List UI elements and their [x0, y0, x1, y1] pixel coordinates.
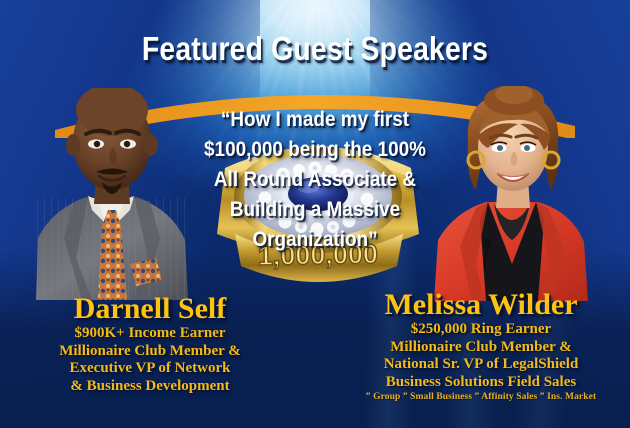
speaker-caption-right: Melissa Wilder $250,000 Ring Earner Mill…: [336, 288, 626, 404]
speaker-name: Melissa Wilder: [336, 288, 626, 321]
quote-line: Organization”: [170, 224, 460, 254]
quote-line: All Round Associate &: [170, 164, 460, 194]
speaker-credential: $250,000 Ring Earner: [336, 321, 626, 339]
speaker-credential: National Sr. VP of LegalShield: [336, 356, 626, 374]
quote-block: “How I made my first $100,000 being the …: [150, 104, 480, 254]
speaker-credential: $900K+ Income Earner: [5, 325, 295, 343]
speaker-credential: Executive VP of Network: [5, 360, 295, 378]
speaker-name: Darnell Self: [5, 292, 295, 325]
speaker-credential: Business Solutions Field Sales: [336, 374, 626, 392]
speaker-credential: Millionaire Club Member &: [5, 343, 295, 361]
quote-line: $100,000 being the 100%: [170, 134, 460, 164]
quote-line: “How I made my first: [170, 104, 460, 134]
speaker-credential: & Business Development: [5, 378, 295, 396]
speaker-caption-left: Darnell Self $900K+ Income Earner Millio…: [5, 292, 295, 395]
quote-line: Building a Massive: [170, 194, 460, 224]
poster-canvas: 1,000,000: [0, 0, 630, 428]
page-title: Featured Guest Speakers: [44, 30, 586, 68]
speaker-credential: Millionaire Club Member &: [336, 339, 626, 357]
speaker-footnote: ” Group ” Small Business ” Affinity Sale…: [336, 391, 626, 404]
